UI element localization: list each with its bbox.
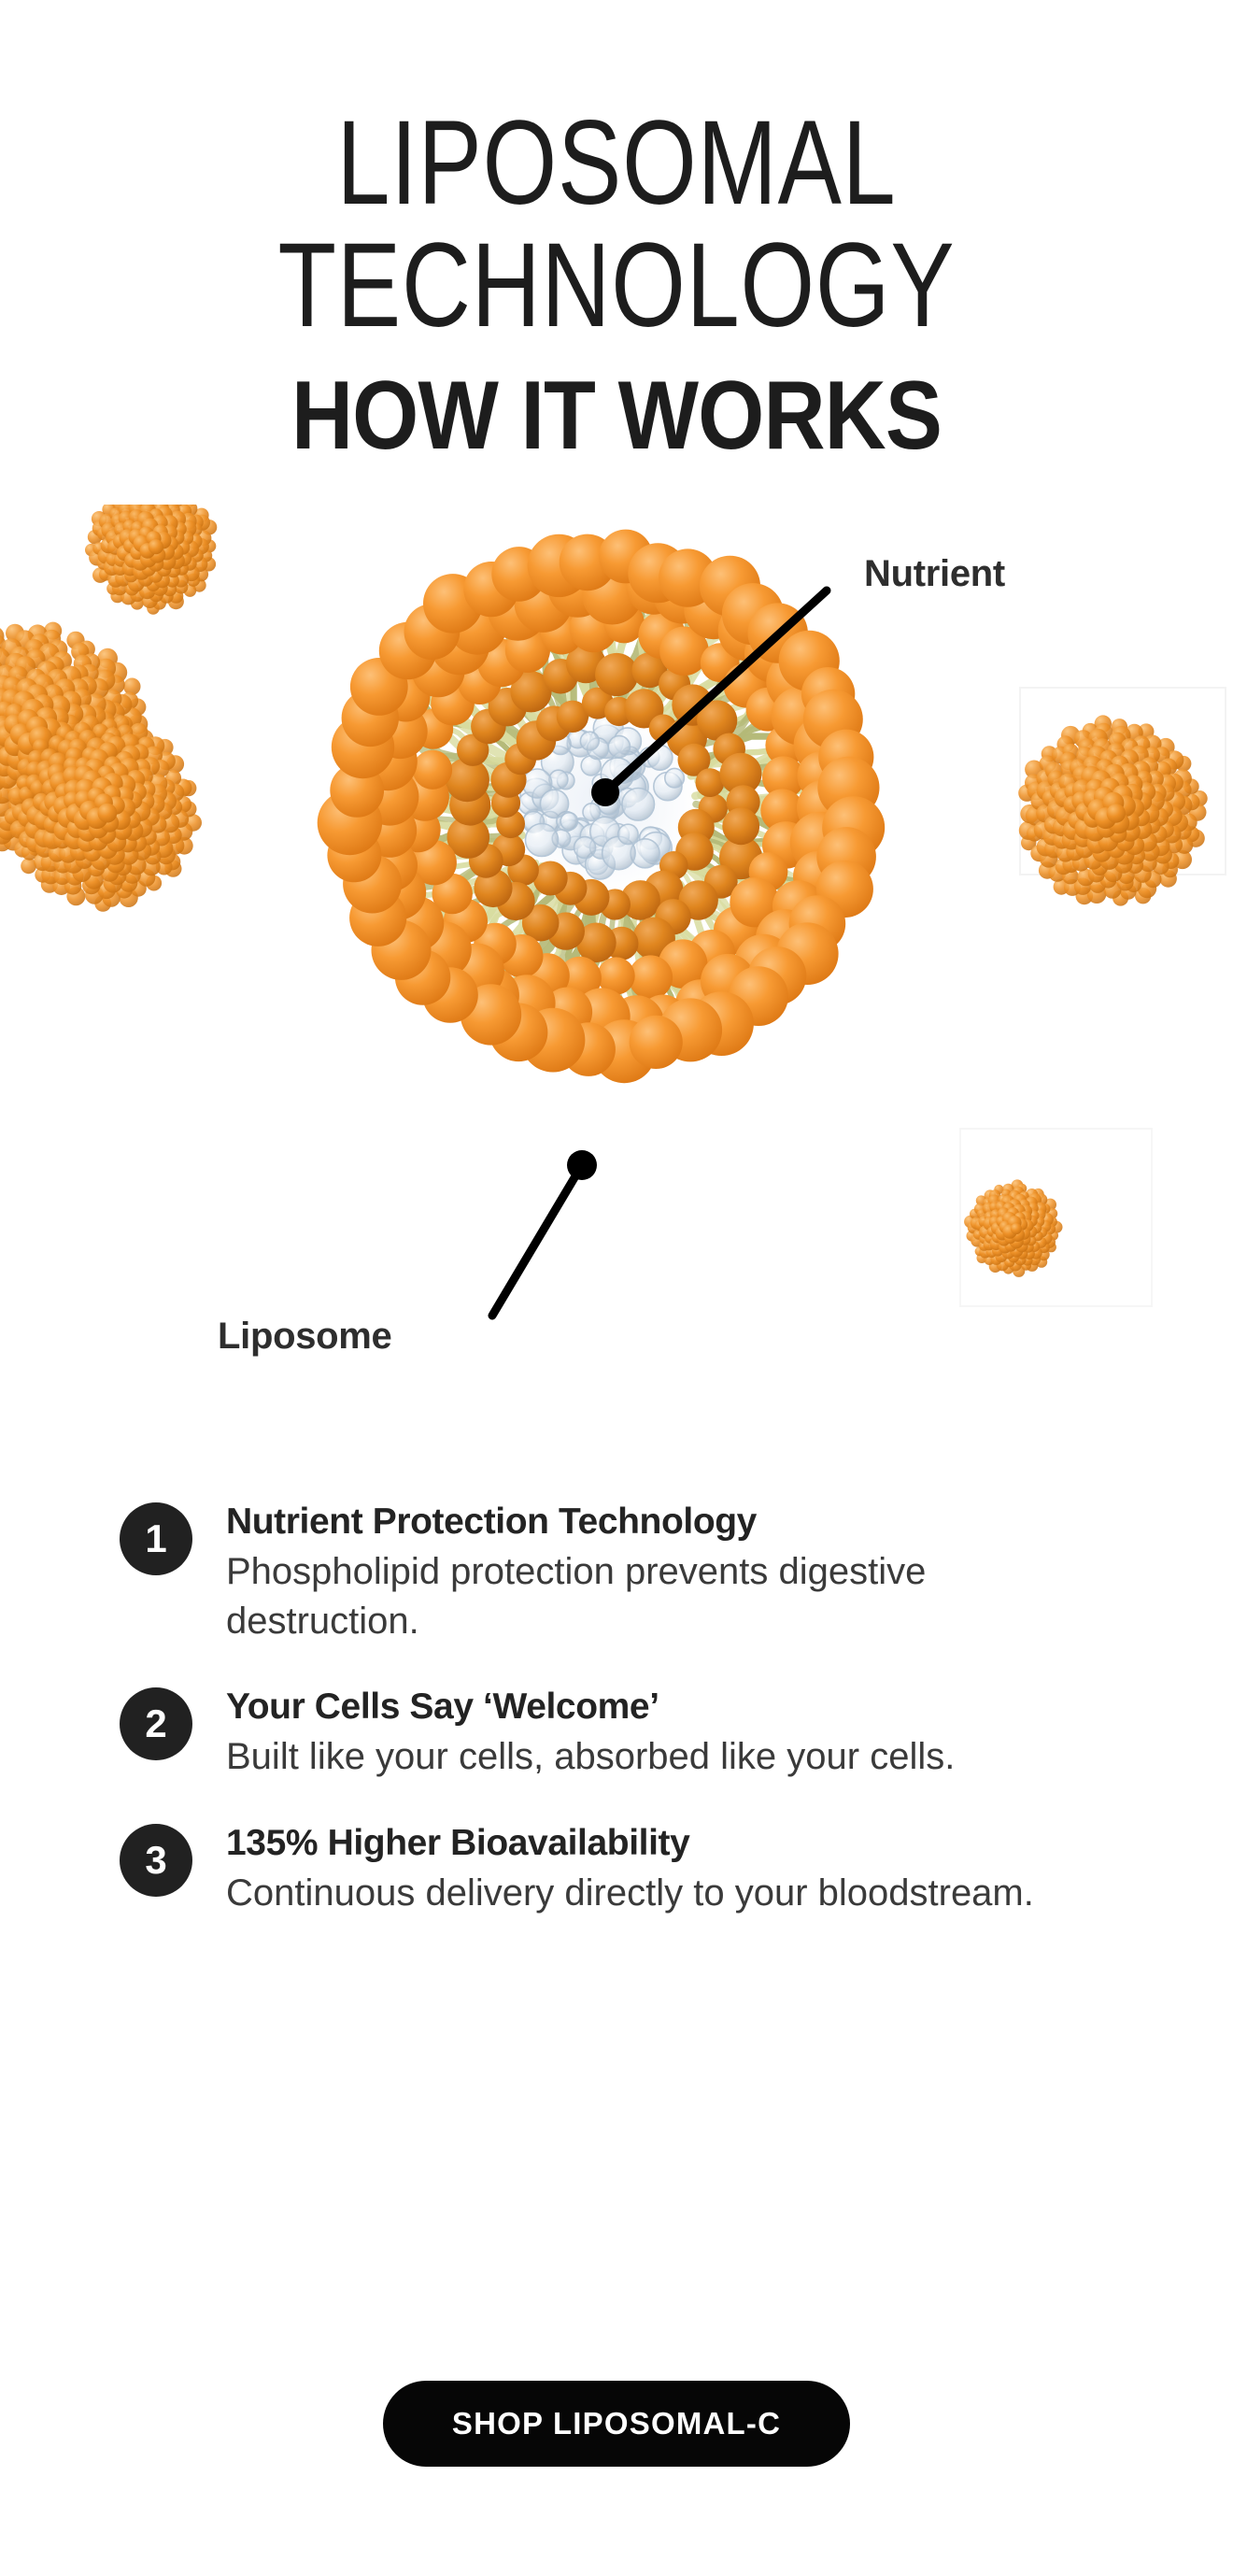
step-description: Phospholipid protection prevents digesti… [226, 1547, 1048, 1646]
micelle-cluster-bottom-right [964, 1179, 1062, 1277]
micelle-cluster-mid-left [5, 716, 202, 912]
step-content: 135% Higher Bioavailability Continuous d… [226, 1820, 1034, 1918]
micelle-cluster-top-left [85, 505, 217, 615]
micelle-cluster-right [1018, 715, 1207, 905]
cta-container: SHOP LIPOSOMAL-C [0, 2381, 1233, 2467]
step-description: Built like your cells, absorbed like you… [226, 1732, 955, 1782]
step-title: 135% Higher Bioavailability [226, 1822, 1034, 1865]
steps-list: 1 Nutrient Protection Technology Phospho… [120, 1499, 1128, 1956]
step-number-badge: 2 [120, 1687, 192, 1760]
step-title: Your Cells Say ‘Welcome’ [226, 1686, 955, 1729]
shop-liposomal-c-button[interactable]: SHOP LIPOSOMAL-C [383, 2381, 850, 2467]
page-title: LIPOSOMAL TECHNOLOGY HOW IT WORKS [0, 103, 1233, 464]
liposome-diagram-svg [0, 505, 1233, 1327]
infographic-page: LIPOSOMAL TECHNOLOGY HOW IT WORKS [0, 0, 1233, 2576]
callout-leader-liposome [492, 1150, 597, 1316]
liposome-illustration [0, 505, 1233, 1327]
list-item: 2 Your Cells Say ‘Welcome’ Built like yo… [120, 1684, 1128, 1782]
page-subtitle: HOW IT WORKS [74, 367, 1159, 464]
step-description: Continuous delivery directly to your blo… [226, 1869, 1034, 1918]
list-item: 1 Nutrient Protection Technology Phospho… [120, 1499, 1128, 1646]
step-number-badge: 3 [120, 1824, 192, 1897]
callout-label-nutrient: Nutrient [864, 553, 1005, 595]
callout-label-liposome: Liposome [218, 1316, 392, 1358]
list-item: 3 135% Higher Bioavailability Continuous… [120, 1820, 1128, 1918]
step-number-badge: 1 [120, 1502, 192, 1575]
title-line-1: LIPOSOMAL [123, 103, 1110, 225]
step-title: Nutrient Protection Technology [226, 1501, 1048, 1544]
step-content: Your Cells Say ‘Welcome’ Built like your… [226, 1684, 955, 1782]
step-content: Nutrient Protection Technology Phospholi… [226, 1499, 1048, 1646]
title-line-2: TECHNOLOGY [123, 225, 1110, 348]
